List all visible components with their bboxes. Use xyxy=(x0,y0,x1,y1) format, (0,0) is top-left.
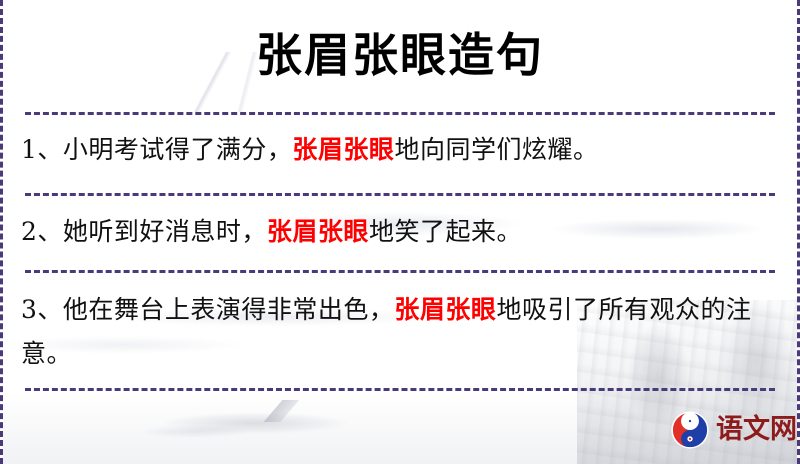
sentence-2-keyword: 张眉张眼 xyxy=(267,217,369,246)
site-logo-text: 语文网 xyxy=(716,415,797,445)
sentence-item-2: 2、她听到好消息时，张眉张眼地笑了起来。 xyxy=(21,210,779,254)
page-title: 张眉张眼造句 xyxy=(3,24,797,86)
sentence-1-keyword: 张眉张眼 xyxy=(292,135,394,164)
divider-rule-3 xyxy=(25,270,775,273)
sentence-1-after: 地向同学们炫耀。 xyxy=(394,135,598,164)
divider-rule-2 xyxy=(25,193,775,196)
sentence-2-after: 地笑了起来。 xyxy=(369,217,522,246)
sentence-1-before: 小明考试得了满分， xyxy=(63,135,293,164)
yinyang-fish-logo-icon xyxy=(671,411,709,449)
divider-rule-1 xyxy=(25,112,775,115)
sentence-item-1: 1、小明考试得了满分，张眉张眼地向同学们炫耀。 xyxy=(21,128,779,172)
worksheet-page: 张眉张眼造句 1、小明考试得了满分，张眉张眼地向同学们炫耀。 2、她听到好消息时… xyxy=(0,0,800,464)
sentence-3-keyword: 张眉张眼 xyxy=(394,295,496,324)
divider-rule-4 xyxy=(25,388,775,391)
sentence-2-before: 她听到好消息时， xyxy=(63,217,267,246)
site-logo[interactable]: 语文网 xyxy=(671,411,797,449)
page-content: 张眉张眼造句 1、小明考试得了满分，张眉张眼地向同学们炫耀。 2、她听到好消息时… xyxy=(3,0,797,464)
sentence-3-index: 3、 xyxy=(21,295,63,324)
sentence-3-before: 他在舞台上表演得非常出色， xyxy=(63,295,395,324)
sentence-1-index: 1、 xyxy=(21,135,63,164)
sentence-2-index: 2、 xyxy=(21,217,63,246)
sentence-item-3: 3、他在舞台上表演得非常出色，张眉张眼地吸引了所有观众的注意。 xyxy=(21,288,779,376)
